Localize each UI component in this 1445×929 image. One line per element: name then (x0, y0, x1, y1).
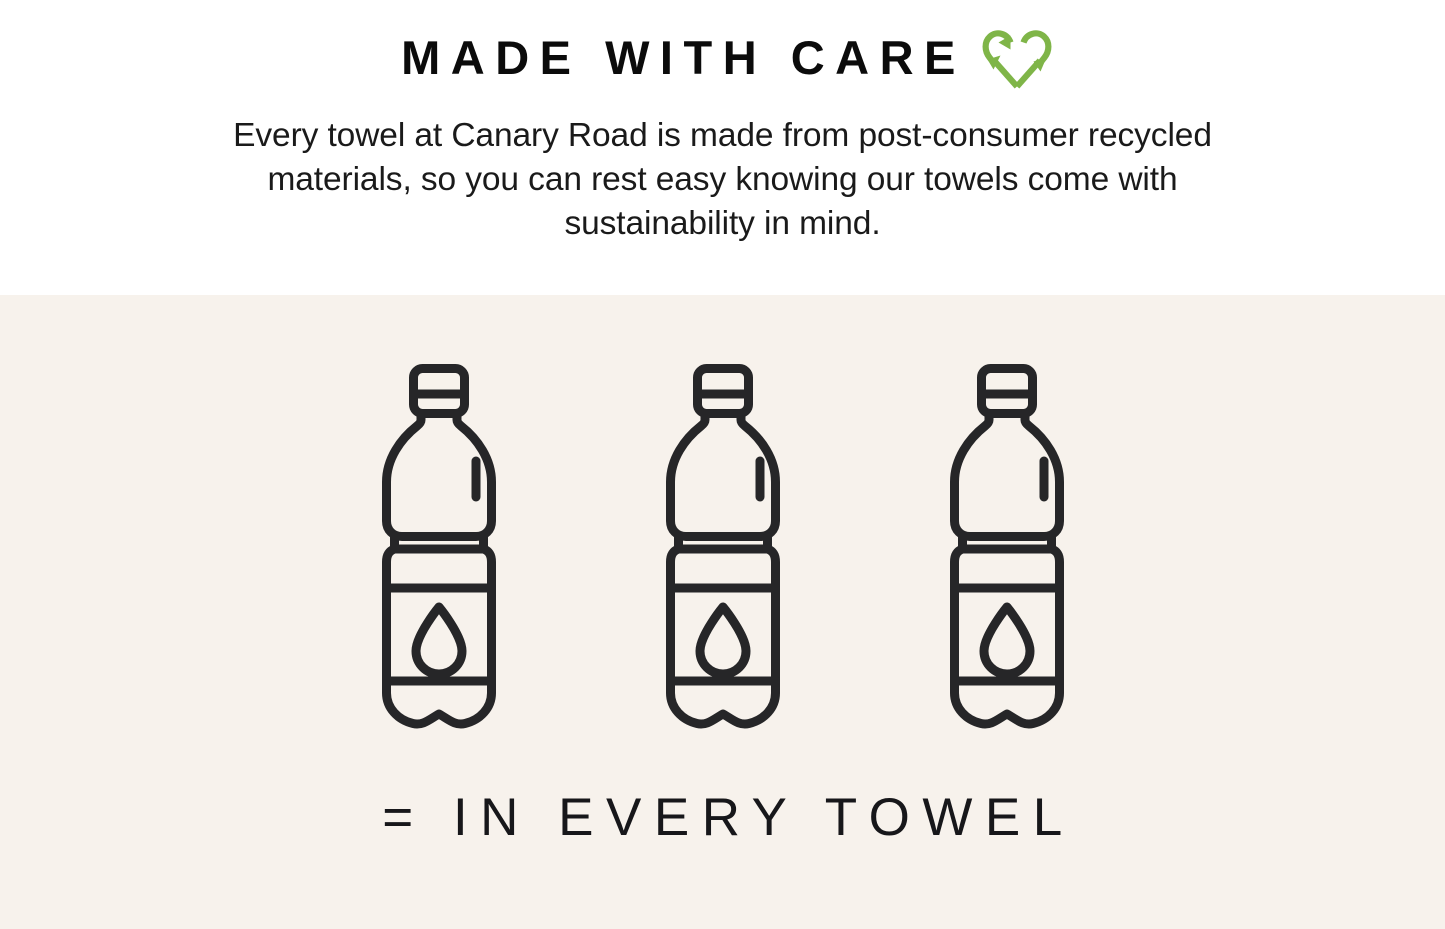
intro-paragraph-line-2: materials, so you can rest easy knowing … (73, 158, 1373, 202)
page-title: MADE WITH CARE (391, 34, 966, 81)
bottles-section: = IN EVERY TOWEL (0, 295, 1445, 929)
plastic-bottle-icon (378, 363, 500, 735)
intro-paragraph: Every towel at Canary Road is made from … (73, 114, 1373, 247)
intro-paragraph-line-1: Every towel at Canary Road is made from … (73, 114, 1373, 158)
plastic-bottle-icon (662, 363, 784, 735)
heart-recycle-icon (984, 23, 1054, 91)
intro-paragraph-line-3: sustainability in mind. (73, 202, 1373, 246)
plastic-bottle-icon (946, 363, 1068, 735)
bottle-row (378, 363, 1068, 735)
headline-row: MADE WITH CARE (391, 22, 1054, 92)
made-with-care-banner: MADE WITH CARE (0, 0, 1445, 929)
equation-label: = IN EVERY TOWEL (370, 787, 1074, 848)
intro-section: MADE WITH CARE (0, 0, 1445, 295)
